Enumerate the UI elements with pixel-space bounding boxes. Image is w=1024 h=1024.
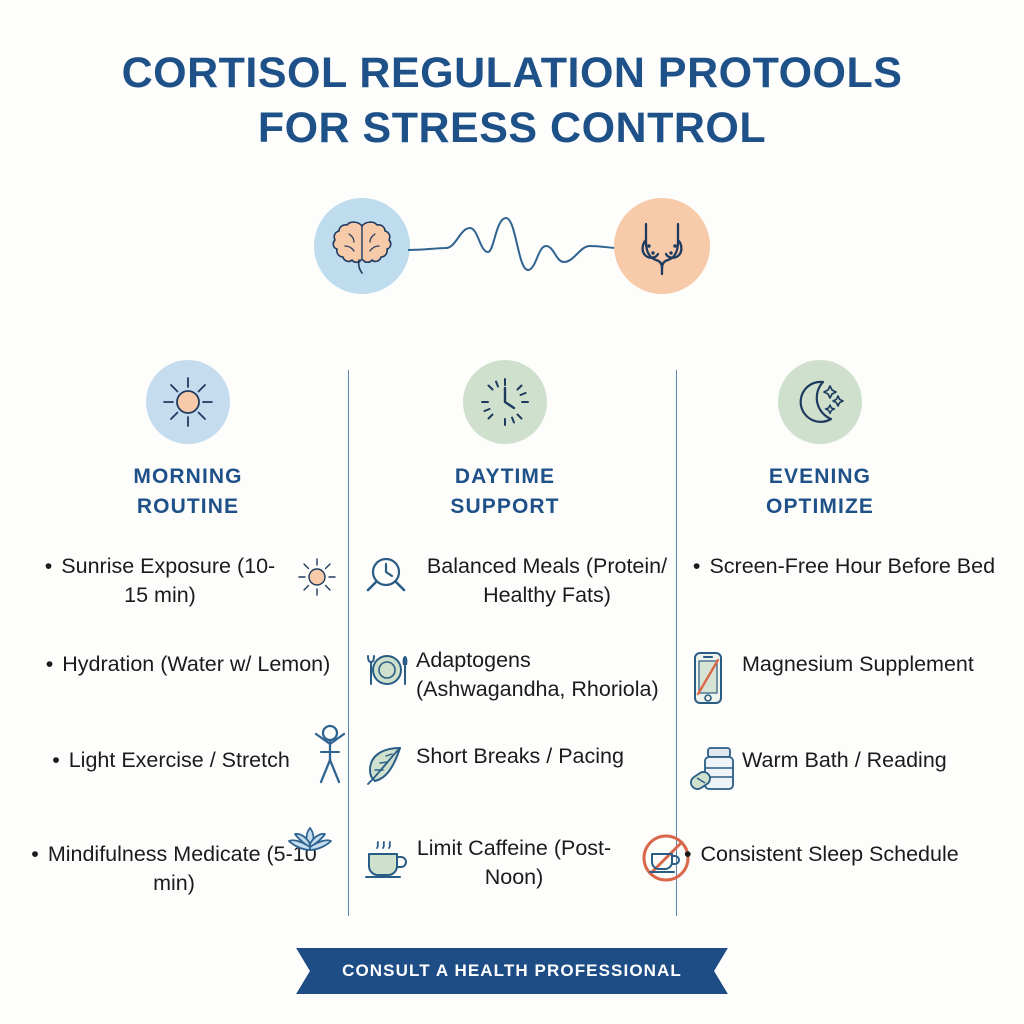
column-items-morning: Sunrise Exposure (10-15 min) Hydration (… [28,552,348,928]
moon-stars-icon [790,372,850,432]
sun-small-icon [296,556,338,598]
item-label-warm-bath: Warm Bath / Reading [742,746,1004,775]
list-item: Limit Caffeine (Post-Noon) [358,834,678,896]
list-item: Mindifulness Medicate (5-10 min) [28,840,348,902]
item-label-adaptogens: Adaptogens (Ashwagandha, Rhoriola) [416,646,678,704]
item-label-limit-caffeine: Limit Caffeine (Post-Noon) [416,834,678,892]
no-phone-icon [688,650,728,706]
clock-magnifier-icon [362,552,410,600]
column-title-morning: MORNING ROUTINE [58,462,318,522]
list-item: Magnesium Supplement [684,650,1004,712]
column-title-daytime-line2: SUPPORT [450,495,559,518]
sun-badge [146,360,230,444]
column-header-morning: MORNING ROUTINE [58,360,318,522]
list-item: Sunrise Exposure (10-15 min) [28,552,348,614]
list-item: Hydration (Water w/ Lemon) [28,650,348,712]
stretching-person-icon [304,722,356,788]
clock-badge [463,360,547,444]
list-item: Short Breaks / Pacing [358,742,678,804]
column-title-daytime-line1: DAYTIME [455,465,555,488]
column-header-daytime: DAYTIME SUPPORT [375,360,635,522]
column-items-evening: Screen-Free Hour Before Bed Magnesium Su… [684,552,1004,928]
moon-badge [778,360,862,444]
list-item: Balanced Meals (Protein/ Healthy Fats) [358,552,678,614]
brain-circle [314,198,410,294]
coffee-cup-icon [362,834,410,882]
item-label-sleep-schedule: Consistent Sleep Schedule [684,840,1004,869]
column-title-daytime: DAYTIME SUPPORT [375,462,635,522]
column-title-morning-line2: ROUTINE [137,495,239,518]
item-label-short-breaks: Short Breaks / Pacing [416,742,678,771]
item-label-balanced-meals: Balanced Meals (Protein/ Healthy Fats) [416,552,678,610]
consult-health-professional-banner[interactable]: CONSULT A HEALTH PROFESSIONAL [296,948,728,994]
leaf-icon [362,742,408,788]
list-item: Warm Bath / Reading [684,746,1004,808]
signal-wave-line [408,210,618,286]
list-item: Consistent Sleep Schedule [684,840,1004,902]
title-line-1: CORTISOL REGULATION PROTOOLS [0,46,1024,101]
list-item: Light Exercise / Stretch [28,746,348,808]
lotus-icon [286,824,334,858]
page-title: CORTISOL REGULATION PROTOOLS FOR STRESS … [0,46,1024,156]
item-label-light-exercise: Light Exercise / Stretch [28,746,348,775]
column-title-evening-line2: OPTIMIZE [766,495,874,518]
infographic-canvas: CORTISOL REGULATION PROTOOLS FOR STRESS … [0,0,1024,1024]
plate-cutlery-icon [362,646,412,694]
item-label-magnesium: Magnesium Supplement [742,650,1004,679]
item-label-screen-free: Screen-Free Hour Before Bed [684,552,1004,581]
column-title-morning-line1: MORNING [133,465,242,488]
brain-icon [331,218,393,274]
list-item: Screen-Free Hour Before Bed [684,552,1004,614]
column-title-evening: EVENING OPTIMIZE [690,462,950,522]
clock-icon [475,372,535,432]
column-items-daytime: Balanced Meals (Protein/ Healthy Fats) A… [358,552,678,922]
title-line-2: FOR STRESS CONTROL [0,101,1024,156]
hero-diagram [312,198,712,308]
item-label-hydration: Hydration (Water w/ Lemon) [28,650,348,679]
list-item: Adaptogens (Ashwagandha, Rhoriola) [358,646,678,708]
adrenal-glands-icon [636,216,688,276]
supplement-bottle-icon [688,746,740,796]
footer-banner-wrap: CONSULT A HEALTH PROFESSIONAL [0,948,1024,994]
column-divider-left [348,370,349,916]
column-title-evening-line1: EVENING [769,465,871,488]
sun-icon [158,372,218,432]
column-header-evening: EVENING OPTIMIZE [690,360,950,522]
adrenal-circle [614,198,710,294]
